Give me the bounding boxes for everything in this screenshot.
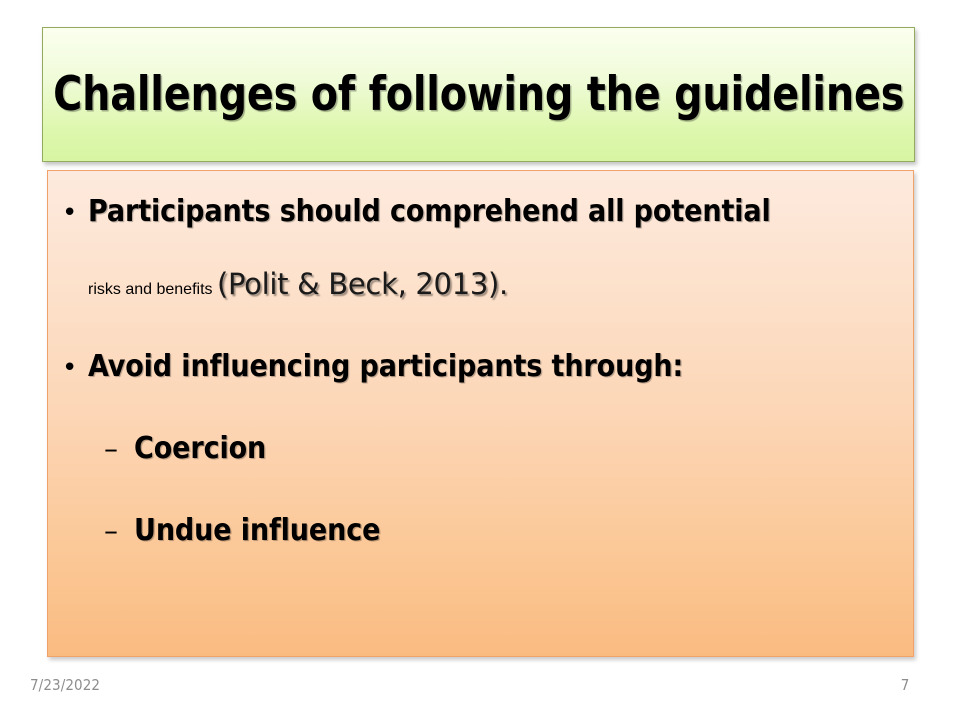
sub-list-item[interactable]: –Coercion	[104, 431, 266, 466]
slide: Challenges of following the guidelines •…	[0, 0, 960, 720]
list-item-continuation[interactable]: risks and benefits (Polit & Beck, 2013).	[62, 267, 508, 301]
list-item-label: Participants should comprehend all poten…	[88, 194, 771, 229]
slide-content-box[interactable]: •Participants should comprehend all pote…	[47, 170, 914, 657]
slide-title-box[interactable]: Challenges of following the guidelines	[42, 27, 915, 162]
sub-list-item[interactable]: –Undue influence	[104, 513, 380, 548]
list-item-label: Avoid influencing participants through:	[88, 349, 683, 384]
footer-page-number: 7	[890, 676, 920, 694]
content-list: •Participants should comprehend all pote…	[48, 171, 913, 656]
sub-list-item-label: Coercion	[134, 431, 266, 466]
citation-reference: (Polit & Beck, 2013).	[217, 267, 508, 301]
page-title: Challenges of following the guidelines	[53, 70, 904, 119]
list-item[interactable]: •Participants should comprehend all pote…	[62, 194, 771, 229]
bullet-dot-icon: •	[62, 200, 88, 226]
list-item-label-continued: risks and benefits	[88, 281, 217, 298]
bullet-dot-icon: •	[62, 355, 88, 381]
bullet-dash-icon: –	[104, 517, 134, 545]
sub-list-item-label: Undue influence	[134, 513, 380, 548]
bullet-dash-icon: –	[104, 435, 134, 463]
list-item[interactable]: •Avoid influencing participants through:	[62, 349, 683, 384]
footer-date: 7/23/2022	[30, 676, 100, 694]
